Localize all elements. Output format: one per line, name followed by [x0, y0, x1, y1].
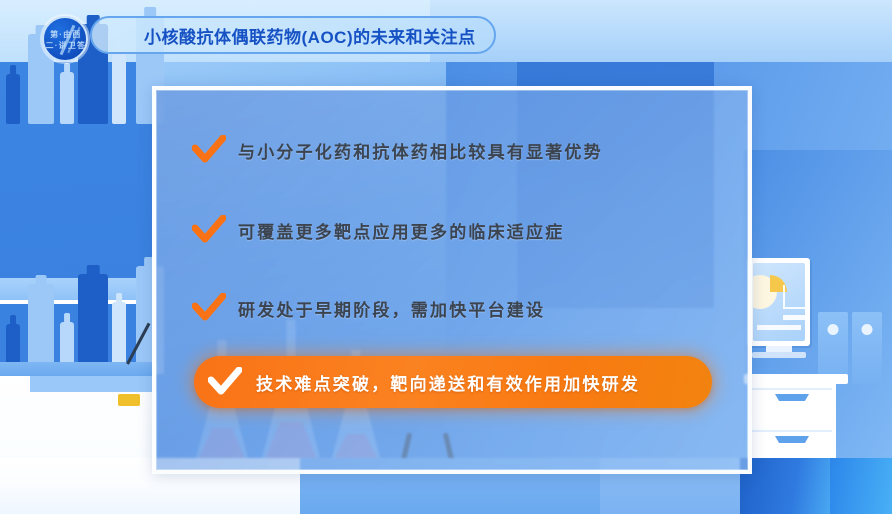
list-item[interactable]: 可覆盖更多靶点应用更多的临床适应症 [180, 202, 724, 258]
check-icon [180, 215, 238, 245]
background-floor-tint [740, 458, 830, 514]
list-item-highlighted[interactable]: 技术难点突破，靶向递送和有效作用加快研发 [194, 356, 712, 408]
monitor [748, 258, 810, 346]
pharmacy-shelf [0, 62, 156, 362]
bullet-list: 与小分子化药和抗体药相比较具有显著优势 可覆盖更多靶点应用更多的临床适应症 研发… [156, 90, 748, 470]
page-title: 小核酸抗体偶联药物(AOC)的未来和关注点 [144, 23, 476, 48]
background-floor-tint [830, 458, 892, 514]
list-item-label: 技术难点突破，靶向递送和有效作用加快研发 [256, 370, 640, 395]
binder [852, 312, 882, 384]
lower-cabinet-left [0, 362, 156, 468]
list-item-label: 可覆盖更多靶点应用更多的临床适应症 [238, 218, 564, 243]
list-item[interactable]: 研发处于早期阶段，需加快平台建设 [180, 280, 724, 336]
slide-canvas: 小核酸抗体偶联药物(AOC)的未来和关注点 第 · 由 西 二 · 讲 卫 答 … [0, 0, 892, 514]
list-item-label: 研发处于早期阶段，需加快平台建设 [238, 296, 545, 321]
content-panel: 与小分子化药和抗体药相比较具有显著优势 可覆盖更多靶点应用更多的临床适应症 研发… [152, 86, 752, 474]
list-item-label: 与小分子化药和抗体药相比较具有显著优势 [238, 138, 603, 163]
check-icon [180, 135, 238, 165]
title-pill: 小核酸抗体偶联药物(AOC)的未来和关注点 [90, 16, 496, 54]
check-icon [180, 293, 238, 323]
program-logo-icon: 第 · 由 西 二 · 讲 卫 答 [42, 16, 88, 62]
list-item[interactable]: 与小分子化药和抗体药相比较具有显著优势 [180, 122, 724, 178]
check-icon [194, 367, 256, 397]
logo-line-2: 二 · 讲 卫 答 [44, 42, 86, 50]
logo-line-1: 第 · 由 西 [44, 31, 86, 39]
sticky-note [118, 394, 140, 406]
monitor-base [752, 352, 806, 358]
